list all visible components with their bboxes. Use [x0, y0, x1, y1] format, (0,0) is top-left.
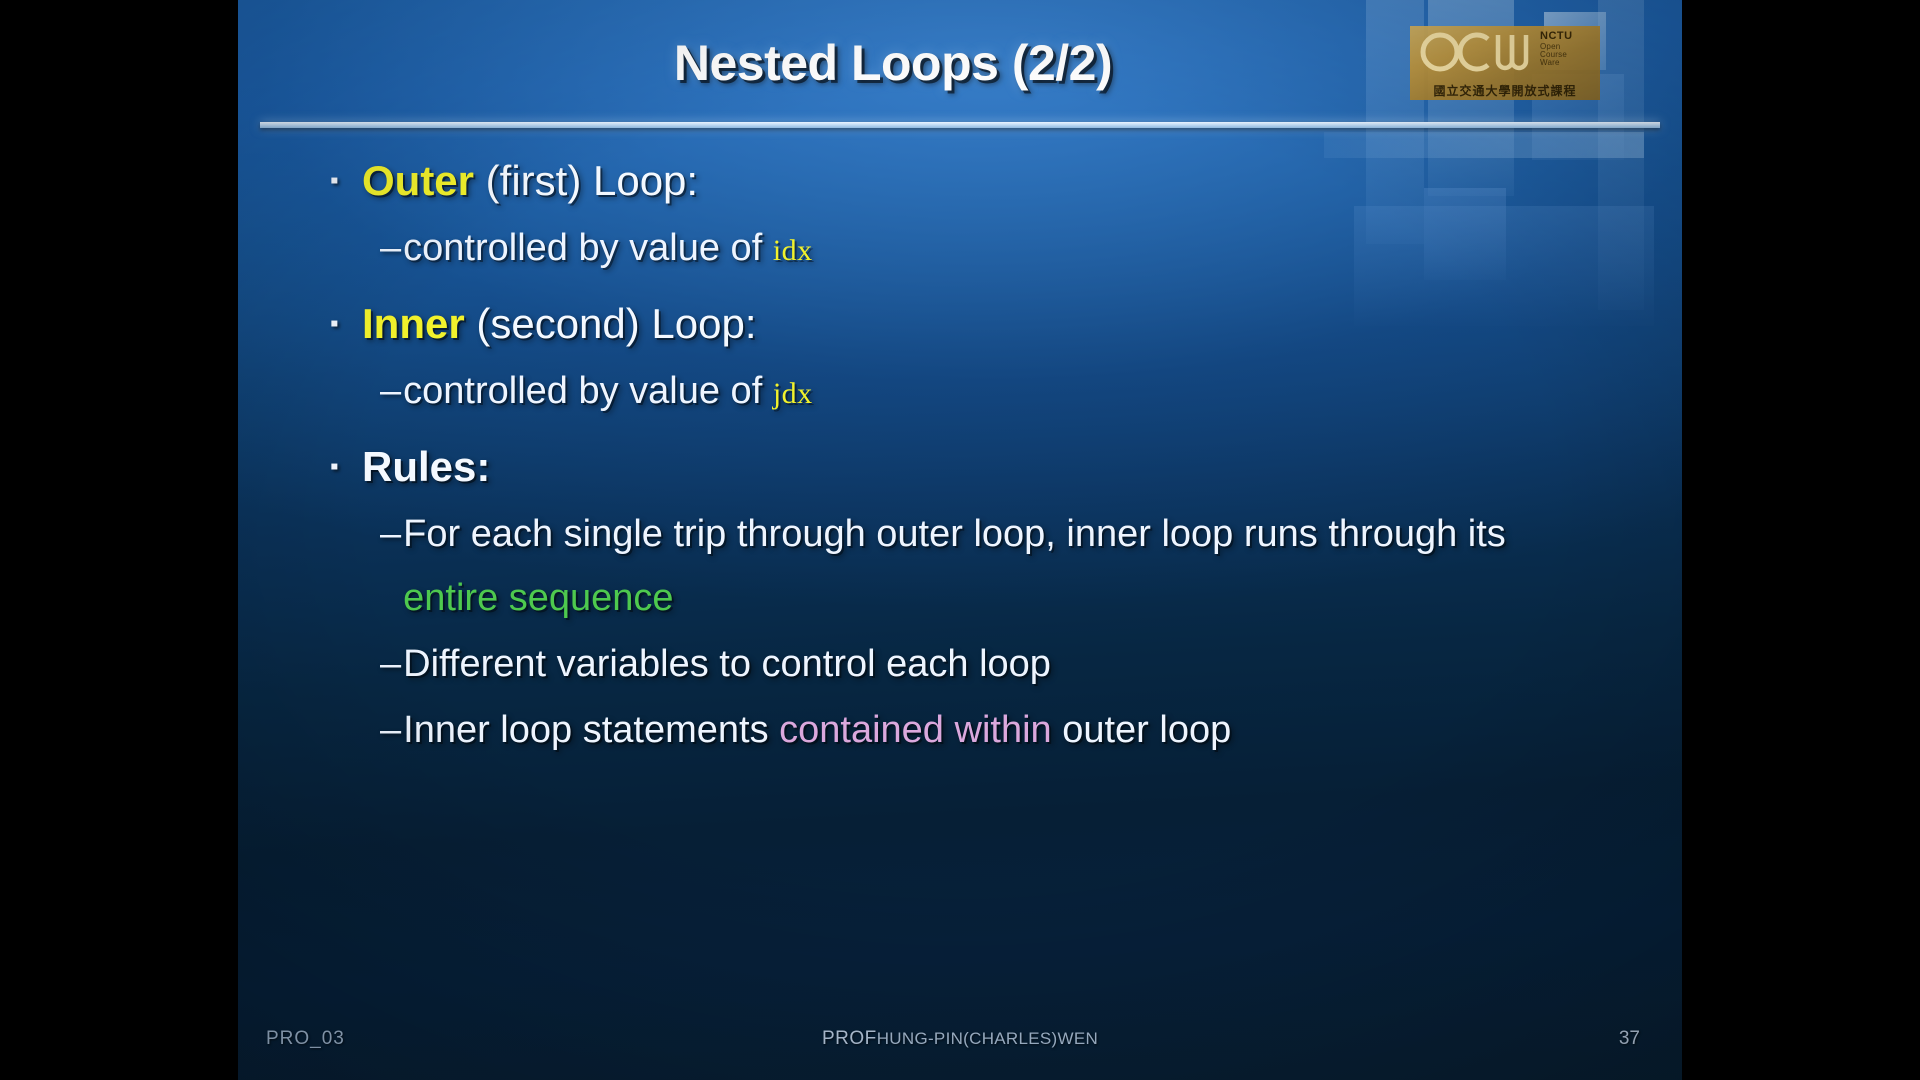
bullet-level1-rest: (second) Loop: — [465, 300, 757, 347]
sub-text-pre: controlled by value of — [403, 227, 773, 269]
bullet-level2-rule-1: – For each single trip through outer loo… — [238, 502, 1682, 630]
dash-icon: – — [380, 502, 401, 566]
bullet-level1-text: Outer (first) Loop: — [362, 148, 698, 214]
logo-ncty-text: NCTU Open Course Ware — [1540, 31, 1594, 68]
slide-screenshot: NCTU Open Course Ware 國立交通大學開放式課程 Nested… — [0, 0, 1920, 1080]
footer-page-number: 37 — [1619, 1028, 1640, 1050]
presentation-slide: NCTU Open Course Ware 國立交通大學開放式課程 Nested… — [238, 0, 1682, 1080]
bullet-level1-rules: ▪ Rules: — [238, 434, 1682, 500]
bullet-level2-text: Inner loop statements contained within o… — [403, 698, 1231, 762]
keyword-outer: Outer — [362, 157, 474, 204]
bullet-level1-text: Rules: — [362, 434, 490, 500]
bullet-level2-text: controlled by value of idx — [403, 216, 813, 283]
sub-text-post: outer loop — [1052, 709, 1232, 751]
footer-prof-name: HUNG-PIN(CHARLES)WEN — [877, 1029, 1098, 1048]
dash-icon: – — [380, 216, 401, 280]
bullet-level1-rest: (first) Loop: — [474, 157, 698, 204]
logo-line-4: Ware — [1540, 59, 1594, 67]
sub-text-pre: For each single trip through outer loop,… — [403, 513, 1506, 555]
bullet-square-icon: ▪ — [330, 434, 362, 500]
bullet-level2-text: For each single trip through outer loop,… — [403, 502, 1523, 630]
letterbox-left — [0, 0, 238, 1080]
bullet-level2-rule-2: – Different variables to control each lo… — [238, 632, 1682, 696]
bullet-level1-text: Inner (second) Loop: — [362, 291, 757, 357]
sub-text-pre: controlled by value of — [403, 370, 773, 412]
sub-text-pre: Inner loop statements — [403, 709, 779, 751]
bullet-level2-outer-controlled: – controlled by value of idx — [238, 216, 1682, 283]
bullet-level2-inner-controlled: – controlled by value of jdx — [238, 359, 1682, 426]
dash-icon: – — [380, 632, 401, 696]
bullet-level1-inner: ▪ Inner (second) Loop: — [238, 291, 1682, 357]
highlight-contained-within: contained within — [779, 709, 1052, 751]
footer-presenter: PROFHUNG-PIN(CHARLES)WEN — [238, 1028, 1682, 1050]
code-term-idx: idx — [773, 234, 813, 267]
logo-line-1: NCTU — [1540, 31, 1594, 43]
slide-title: Nested Loops (2/2) — [238, 34, 1548, 92]
title-divider — [260, 122, 1660, 128]
bullet-level2-text: Different variables to control each loop — [403, 632, 1051, 696]
slide-footer: PRO_03 PROFHUNG-PIN(CHARLES)WEN 37 — [238, 1028, 1682, 1058]
bullet-level1-outer: ▪ Outer (first) Loop: — [238, 148, 1682, 214]
bullet-level2-rule-3: – Inner loop statements contained within… — [238, 698, 1682, 762]
keyword-inner: Inner — [362, 300, 465, 347]
bullet-level1-rest: Rules: — [362, 443, 490, 490]
bullet-square-icon: ▪ — [330, 148, 362, 214]
footer-prof-label: PROF — [822, 1028, 877, 1049]
code-term-jdx: jdx — [773, 377, 813, 410]
dash-icon: – — [380, 359, 401, 423]
letterbox-right — [1682, 0, 1920, 1080]
sub-text-pre: Different variables to control each loop — [403, 643, 1051, 685]
bullet-level2-text: controlled by value of jdx — [403, 359, 813, 426]
slide-body: ▪ Outer (first) Loop: – controlled by va… — [238, 148, 1682, 764]
dash-icon: – — [380, 698, 401, 762]
bullet-square-icon: ▪ — [330, 291, 362, 357]
highlight-entire-sequence: entire sequence — [403, 577, 673, 619]
